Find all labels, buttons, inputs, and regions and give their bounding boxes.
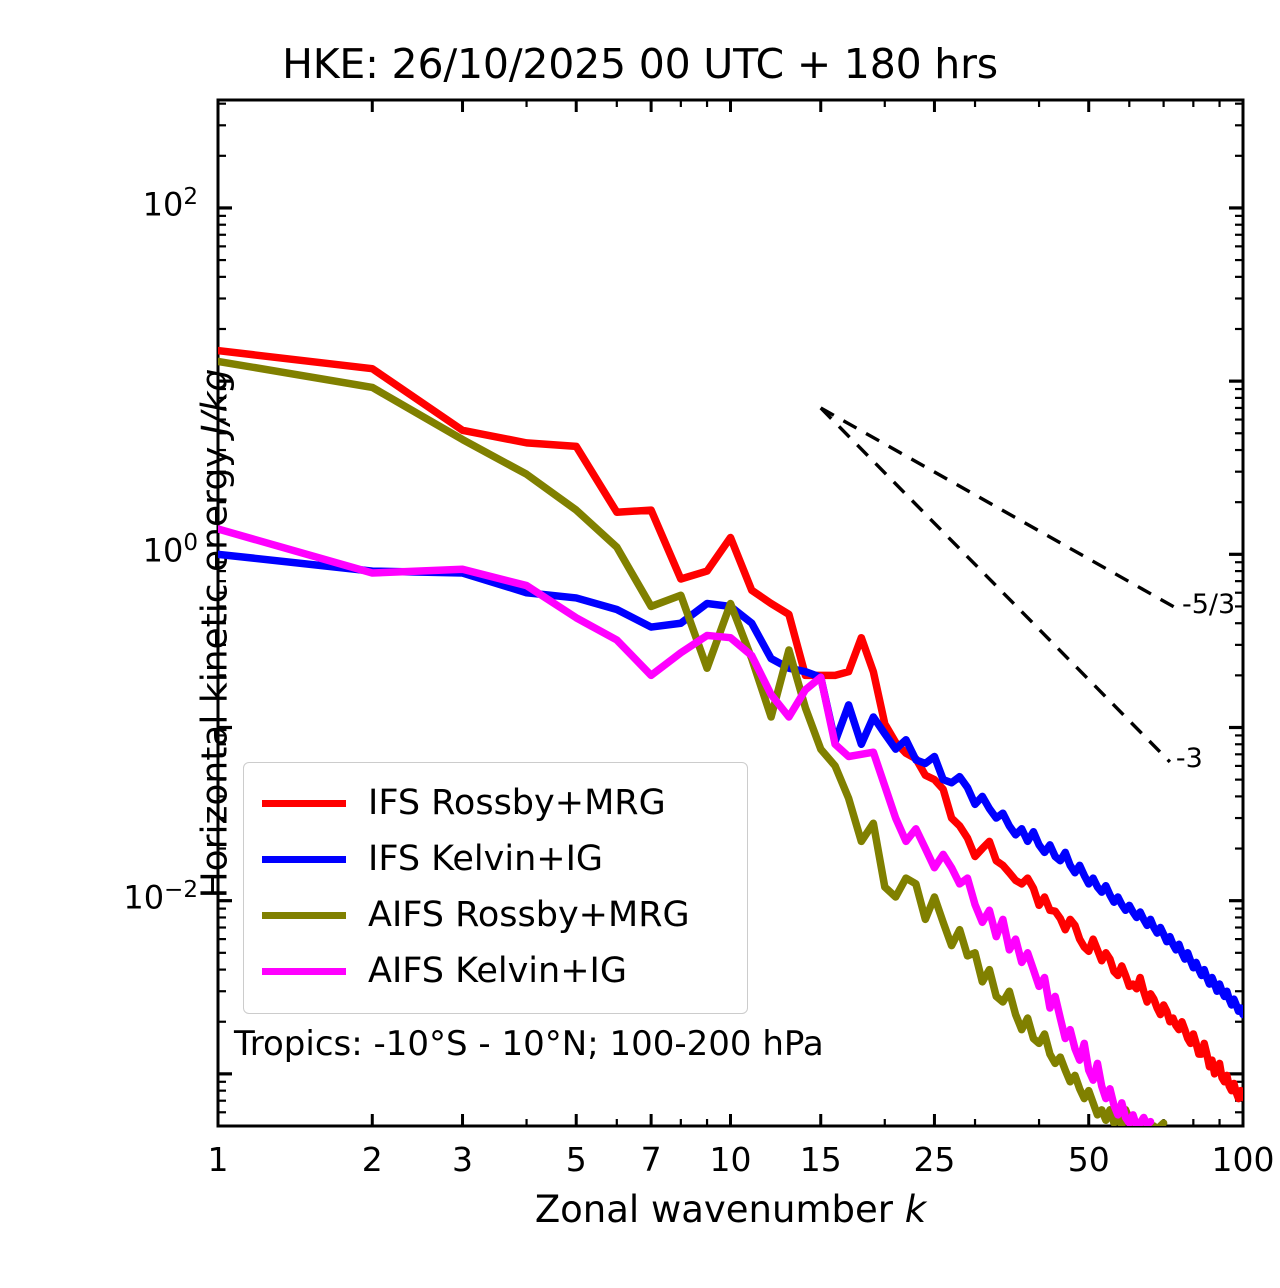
series-line-2	[218, 361, 1164, 1139]
legend-item-3[interactable]: AIFS Kelvin+IG	[262, 943, 729, 999]
y-tick-mantissa: 10	[143, 532, 184, 570]
x-tick-label: 3	[452, 1140, 473, 1179]
legend-item-label: IFS Rossby+MRG	[368, 783, 666, 823]
x-tick-label: 15	[800, 1140, 842, 1179]
legend-item-0[interactable]: IFS Rossby+MRG	[262, 775, 729, 831]
y-tick-exponent: 0	[183, 530, 198, 556]
x-tick-label: 7	[641, 1140, 662, 1179]
x-tick-label: 25	[913, 1140, 955, 1179]
x-tick-label: 5	[566, 1140, 587, 1179]
x-tick-label: 1	[208, 1140, 229, 1179]
y-tick-exponent: 2	[183, 184, 198, 210]
x-tick-label: 50	[1068, 1140, 1110, 1179]
legend-swatch-icon	[262, 800, 346, 807]
legend-swatch-icon	[262, 912, 346, 919]
slope-line--3	[821, 408, 1170, 762]
x-tick-label: 10	[710, 1140, 752, 1179]
y-tick-exponent: −2	[164, 877, 198, 903]
data-series-group	[218, 351, 1243, 1139]
slope-line--5-3	[821, 408, 1176, 608]
reference-slopes	[821, 408, 1176, 762]
legend-item-label: IFS Kelvin+IG	[368, 839, 603, 879]
figure-canvas: HKE: 26/10/2025 00 UTC + 180 hrs Horizon…	[0, 0, 1280, 1288]
y-tick-label: 10−2	[0, 877, 198, 917]
region-annotation: Tropics: -10°S - 10°N; 100-200 hPa	[234, 1024, 824, 1064]
legend-swatch-icon	[262, 856, 346, 863]
chart-legend: IFS Rossby+MRGIFS Kelvin+IGAIFS Rossby+M…	[243, 762, 748, 1014]
legend-item-label: AIFS Kelvin+IG	[368, 951, 627, 991]
y-tick-mantissa: 10	[123, 878, 164, 916]
legend-item-2[interactable]: AIFS Rossby+MRG	[262, 887, 729, 943]
slope-label--5-3: -5/3	[1182, 589, 1235, 620]
x-tick-label: 2	[362, 1140, 383, 1179]
slope-label--3: -3	[1176, 743, 1203, 774]
y-tick-mantissa: 10	[143, 186, 184, 224]
y-tick-label: 102	[0, 184, 198, 224]
legend-item-label: AIFS Rossby+MRG	[368, 895, 690, 935]
legend-item-1[interactable]: IFS Kelvin+IG	[262, 831, 729, 887]
x-tick-label: 100	[1212, 1140, 1275, 1179]
legend-swatch-icon	[262, 968, 346, 975]
y-tick-label: 100	[0, 530, 198, 570]
